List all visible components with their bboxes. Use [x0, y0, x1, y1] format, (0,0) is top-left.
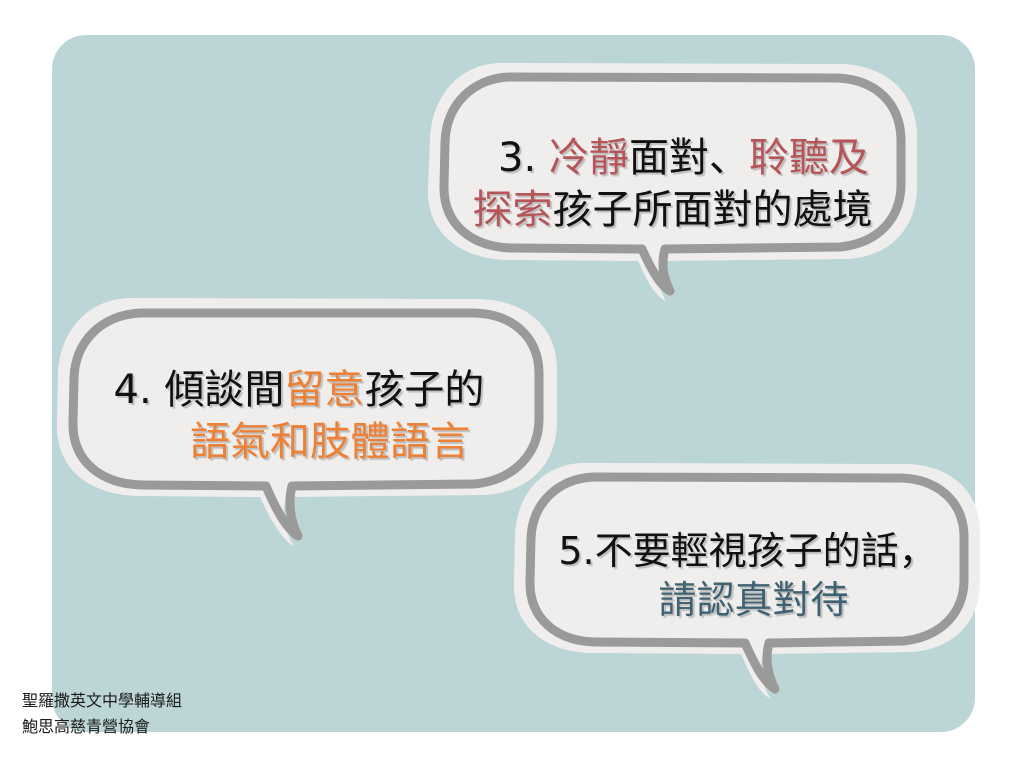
speech-bubble-3-text: 3. 冷靜面對、聆聽及 探索孩子所面對的處境	[420, 55, 925, 260]
bubble-5-line-1: 5.不要輕視孩子的話，	[558, 527, 936, 576]
footer-credit-line-1: 聖羅撒英文中學輔導組	[22, 688, 182, 714]
bubble-4-line-2: 語氣和肢體語言	[146, 417, 470, 468]
bubble-3-seg-3: 面對、	[629, 135, 749, 181]
bubble-3-line-1: 3. 冷靜面對、聆聽及	[476, 133, 869, 184]
bubble-3-seg-5: 探索	[473, 187, 553, 233]
bubble-3-line-2: 探索孩子所面對的處境	[473, 185, 873, 236]
bubble-4-seg-4: 語氣和肢體語言	[190, 419, 470, 465]
bubble-4-seg-1: 4. 傾談間	[114, 367, 285, 413]
speech-bubble-5-text: 5.不要輕視孩子的話， 請認真對待	[505, 455, 990, 655]
speech-bubble-4-text: 4. 傾談間留意孩子的 語氣和肢體語言	[48, 290, 568, 495]
bubble-5-line-2: 請認真對待	[646, 576, 848, 625]
bubble-4-seg-2: 留意	[284, 367, 364, 413]
bubble-4-line-1: 4. 傾談間留意孩子的	[114, 365, 503, 416]
bubble-3-seg-2: 冷靜	[549, 135, 629, 181]
footer-credits: 聖羅撒英文中學輔導組 鮑思高慈青營協會	[22, 688, 182, 739]
speech-bubble-4: 4. 傾談間留意孩子的 語氣和肢體語言	[48, 290, 568, 565]
bubble-4-seg-3: 孩子的	[364, 367, 484, 413]
slide-canvas: 3. 冷靜面對、聆聽及 探索孩子所面對的處境 4. 傾談間留意孩子的 語氣和肢體…	[0, 0, 1024, 768]
bubble-5-seg-1: 5.不要輕視孩子的話，	[558, 529, 936, 573]
footer-credit-line-2: 鮑思高慈青營協會	[22, 714, 182, 740]
bubble-3-seg-6: 孩子所面對的處境	[553, 187, 873, 233]
bubble-3-seg-1: 3.	[498, 135, 549, 181]
speech-bubble-5: 5.不要輕視孩子的話， 請認真對待	[505, 455, 990, 705]
bubble-3-seg-4: 聆聽及	[749, 135, 869, 181]
speech-bubble-3: 3. 冷靜面對、聆聽及 探索孩子所面對的處境	[420, 55, 925, 305]
bubble-5-seg-2: 請認真對待	[658, 578, 848, 622]
